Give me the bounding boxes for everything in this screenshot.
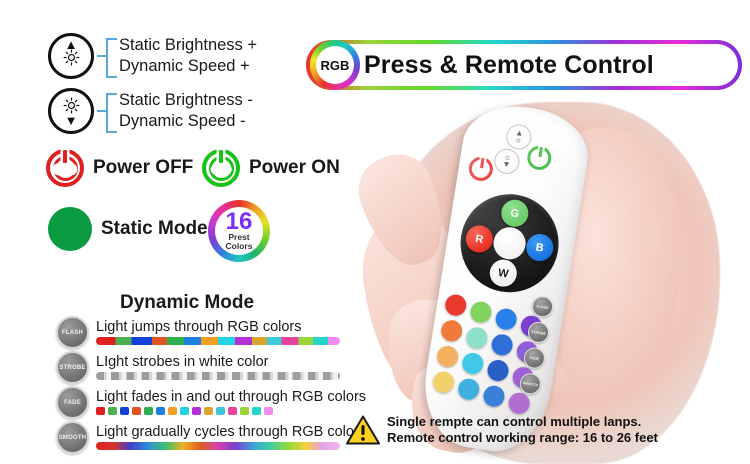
- smooth-button-label: SMOOTH: [59, 435, 87, 441]
- rgb-badge-inner: RGB: [316, 46, 354, 84]
- remote-color-button[interactable]: [440, 319, 464, 343]
- bracket-connector-up: [97, 34, 119, 78]
- power-off-label: Power OFF: [93, 157, 193, 179]
- chevron-down-icon: ▼: [65, 118, 78, 125]
- dynamic-row-smooth: SMOOTH Light gradually cycles through RG…: [56, 421, 366, 454]
- remote-color-button[interactable]: [457, 377, 481, 401]
- brightness-up-labels: Static Brightness + Dynamic Speed +: [119, 35, 257, 77]
- fade-color-bar: [96, 407, 366, 415]
- flash-description: Light jumps through RGB colors: [96, 320, 340, 336]
- brightness-up-line2: Dynamic Speed +: [119, 56, 257, 77]
- strobe-button[interactable]: STROBE: [56, 351, 89, 384]
- remote-color-grid: FLASHSTROBEFADESMOOTH: [445, 293, 562, 311]
- strobe-description: LIght strobes in white color: [96, 355, 340, 371]
- power-off-icon[interactable]: OFF: [46, 149, 84, 187]
- warning-note: Single rempte can control multiple lanps…: [346, 414, 658, 446]
- power-on-row: NO Power ON: [202, 149, 340, 187]
- brightness-down-row: ▼ Static Brightness - Dynamic Speed -: [48, 88, 253, 134]
- remote-color-pad: G B R W: [454, 187, 566, 299]
- power-off-row: OFF Power OFF: [46, 149, 193, 187]
- remote-color-button[interactable]: [507, 391, 531, 415]
- fade-swatch: [216, 407, 225, 415]
- flash-color-bar: [96, 337, 340, 345]
- sun-icon: ☼: [514, 136, 522, 143]
- power-on-pill-label: NO: [211, 163, 232, 175]
- fade-swatch: [156, 407, 165, 415]
- chevron-down-icon: ▼: [502, 161, 511, 169]
- fade-swatch: [144, 407, 153, 415]
- fade-swatch: [252, 407, 261, 415]
- poster-root: Press & Remote Control RGB ▲: [0, 0, 750, 464]
- rgb-badge-label: RGB: [321, 58, 350, 73]
- brightness-up-line1: Static Brightness +: [119, 35, 257, 56]
- hand-holding-remote-photo: ▲ ☼ ☼ ▼ G B R W FLASHSTROBEF: [360, 92, 750, 464]
- header-banner-inner: Press & Remote Control: [310, 44, 738, 86]
- fade-swatch: [120, 407, 129, 415]
- remote-color-button[interactable]: [494, 307, 518, 331]
- warning-text-group: Single rempte can control multiple lanps…: [387, 414, 658, 446]
- warning-line2: Remote control working range: 16 to 26 f…: [387, 430, 658, 446]
- remote-green-button[interactable]: G: [499, 198, 530, 229]
- flash-button[interactable]: FLASH: [56, 316, 89, 349]
- remote-color-button[interactable]: [482, 384, 506, 408]
- remote-red-button[interactable]: R: [464, 224, 495, 255]
- warning-line1: Single rempte can control multiple lanps…: [387, 414, 658, 430]
- remote-color-button[interactable]: [490, 333, 514, 357]
- dynamic-row-fade: FADE Light fades in and out through RGB …: [56, 386, 366, 419]
- remote-power-off-button[interactable]: [467, 155, 494, 182]
- fade-swatch: [168, 407, 177, 415]
- fade-swatch: [180, 407, 189, 415]
- page-title: Press & Remote Control: [364, 51, 654, 80]
- power-on-label: Power ON: [249, 157, 340, 179]
- fade-swatch: [96, 407, 105, 415]
- remote-color-button[interactable]: [444, 293, 468, 317]
- preset-colors-badge: 16 Prest Colors: [208, 200, 270, 262]
- static-mode-dot-icon[interactable]: [48, 207, 92, 251]
- power-on-stem: [219, 150, 223, 163]
- rgb-badge-icon: RGB: [310, 40, 360, 90]
- fade-button-label: FADE: [64, 400, 81, 406]
- fade-button[interactable]: FADE: [56, 386, 89, 419]
- brightness-up-icon[interactable]: ▲: [48, 33, 94, 79]
- remote-color-button[interactable]: [461, 351, 485, 375]
- power-off-stem: [63, 150, 67, 163]
- remote-white-button[interactable]: W: [488, 258, 519, 289]
- remote-blue-button[interactable]: B: [524, 232, 555, 263]
- preset-colors-number: 16: [226, 211, 253, 233]
- fade-swatch: [228, 407, 237, 415]
- remote-color-button[interactable]: [486, 359, 510, 383]
- fade-description: Light fades in and out through RGB color…: [96, 390, 366, 406]
- brightness-up-row: ▲ Static Brightness + Dynamic Speed +: [48, 33, 257, 79]
- remote-color-button[interactable]: [432, 370, 456, 394]
- remote-brightness-down-button[interactable]: ☼ ▼: [493, 147, 522, 176]
- preset-colors-sub2: Colors: [226, 242, 253, 251]
- smooth-description: Light gradually cycles through RGB color…: [96, 425, 366, 441]
- flash-button-label: FLASH: [62, 330, 83, 336]
- remote-color-button[interactable]: [436, 344, 460, 368]
- fade-text-group: Light fades in and out through RGB color…: [96, 390, 366, 416]
- dynamic-mode-title: Dynamic Mode: [120, 292, 254, 314]
- fade-swatch: [204, 407, 213, 415]
- sun-icon: [63, 49, 80, 70]
- power-off-pill-label: OFF: [52, 163, 77, 175]
- strobe-button-label: STROBE: [59, 365, 85, 371]
- remote-color-button[interactable]: [465, 326, 489, 350]
- static-mode-label: Static Mode: [101, 218, 208, 240]
- strobe-text-group: LIght strobes in white color: [96, 355, 340, 381]
- bracket-connector-down: [97, 89, 119, 133]
- preset-colors-inner: 16 Prest Colors: [215, 207, 263, 255]
- dynamic-row-flash: FLASH Light jumps through RGB colors: [56, 316, 340, 349]
- brightness-down-icon[interactable]: ▼: [48, 88, 94, 134]
- warning-triangle-icon: [346, 415, 380, 445]
- power-on-icon[interactable]: NO: [202, 149, 240, 187]
- fade-swatch: [108, 407, 117, 415]
- remote-color-button[interactable]: [469, 300, 493, 324]
- remote-pad-center[interactable]: [491, 225, 528, 262]
- fade-swatch: [132, 407, 141, 415]
- brightness-down-line2: Dynamic Speed -: [119, 111, 253, 132]
- dynamic-row-strobe: STROBE LIght strobes in white color: [56, 351, 340, 384]
- fade-swatch: [240, 407, 249, 415]
- flash-text-group: Light jumps through RGB colors: [96, 320, 340, 346]
- smooth-button[interactable]: SMOOTH: [56, 421, 89, 454]
- strobe-color-bar: [96, 372, 340, 380]
- smooth-color-bar: [96, 442, 340, 450]
- smooth-text-group: Light gradually cycles through RGB color…: [96, 425, 366, 451]
- static-mode-row: Static Mode: [48, 207, 208, 251]
- fade-swatch: [192, 407, 201, 415]
- remote-brightness-up-button[interactable]: ▲ ☼: [505, 123, 534, 152]
- fade-swatch: [264, 407, 273, 415]
- brightness-down-labels: Static Brightness - Dynamic Speed -: [119, 90, 253, 132]
- brightness-down-line1: Static Brightness -: [119, 90, 253, 111]
- header-banner: Press & Remote Control RGB: [306, 40, 742, 90]
- remote-power-on-button[interactable]: [526, 144, 553, 171]
